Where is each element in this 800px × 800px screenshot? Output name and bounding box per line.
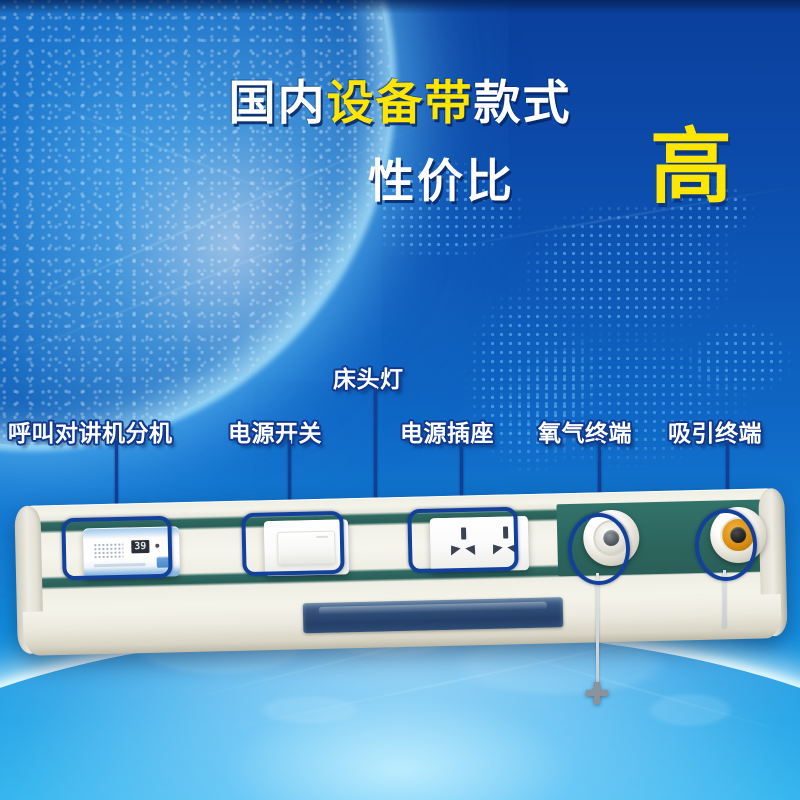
highlight-box-socket [407,507,518,573]
callout-label-power-socket: 电源插座 [400,414,494,448]
poster-canvas: 国内设备带款式 性价比 高 呼叫对讲机分机 电源开关 床头灯 电源插座 氧气终端… [0,0,800,800]
callout-label-bed-light: 床头灯 [333,360,404,394]
callout-label-suction-terminal: 吸引终端 [668,414,762,448]
callout-label-oxygen-terminal: 氧气终端 [538,414,632,448]
highlight-box-intercom [61,516,172,580]
highlight-box-switch [241,511,344,576]
callout-label-intercom: 呼叫对讲机分机 [8,414,173,448]
callout-layer: 呼叫对讲机分机 电源开关 床头灯 电源插座 氧气终端 吸引终端 [0,0,800,800]
highlight-ellipse-oxygen [568,513,630,585]
callout-label-power-switch: 电源开关 [228,414,322,448]
bed-light-diffuser[interactable] [303,597,564,633]
oxygen-terminal-hanging-cord [596,573,599,688]
oxygen-cord-cross-fitting-icon [586,682,608,704]
highlight-ellipse-suction [695,509,757,581]
